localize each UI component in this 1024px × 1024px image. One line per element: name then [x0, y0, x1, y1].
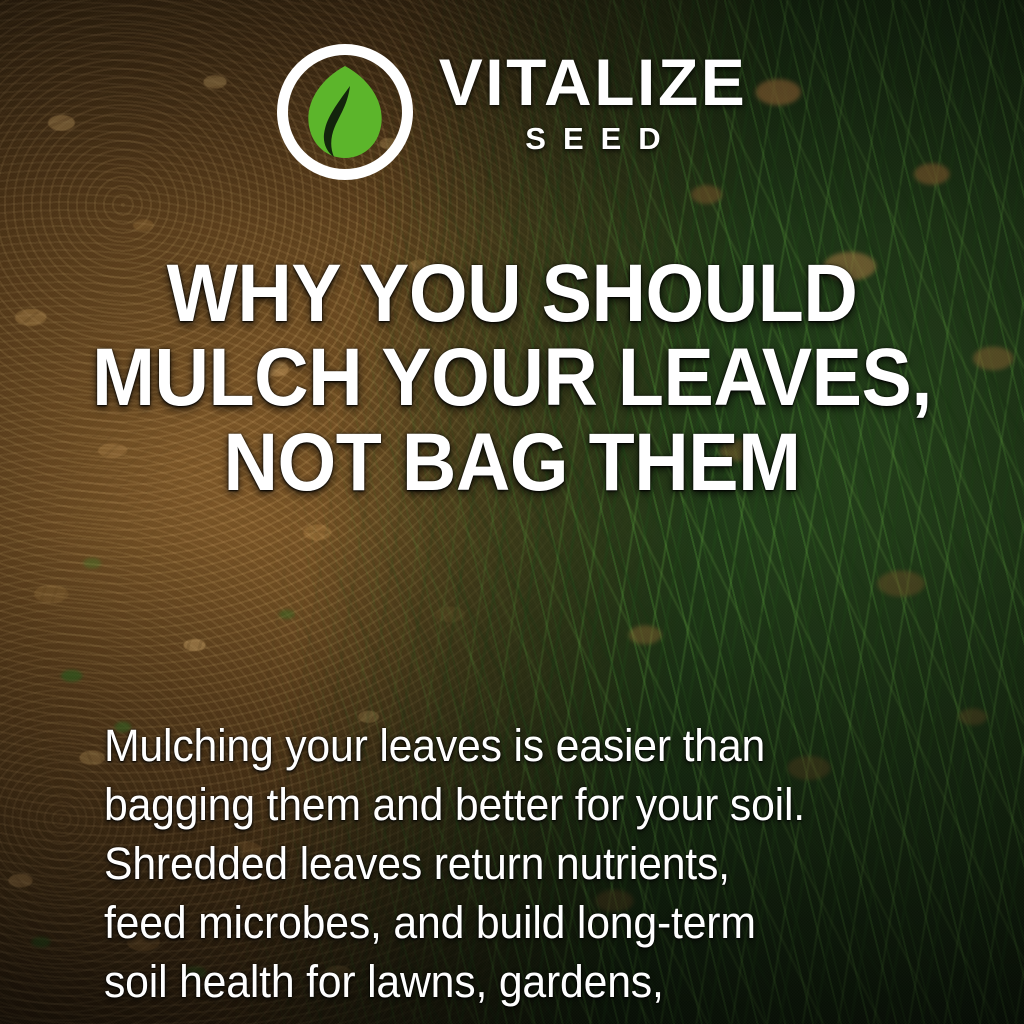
- page-title: WHY YOU SHOULD MULCH YOUR LEAVES, NOT BA…: [50, 252, 974, 505]
- poster-content: VITALIZE SEED WHY YOU SHOULD MULCH YOUR …: [0, 0, 1024, 1024]
- body-line-2: bagging them and better for your soil.: [104, 775, 864, 834]
- brand-name: VITALIZE: [439, 50, 747, 115]
- headline-line-3: NOT BAG THEM: [87, 421, 937, 505]
- brand-subname: SEED: [508, 121, 677, 157]
- headline-line-1: WHY YOU SHOULD: [87, 252, 937, 336]
- body-line-4: feed microbes, and build long-term: [104, 893, 864, 952]
- brand-wordmark: VITALIZE SEED: [439, 44, 747, 157]
- leaf-icon: [293, 60, 397, 164]
- brand-logo-lockup[interactable]: VITALIZE SEED: [0, 44, 1024, 180]
- body-line-5: soil health for lawns, gardens,: [104, 952, 864, 1011]
- body-paragraph: Mulching your leaves is easier than bagg…: [104, 716, 904, 1011]
- body-line-3: Shredded leaves return nutrients,: [104, 834, 864, 893]
- leaf-in-circle-icon: [277, 44, 413, 180]
- body-line-1: Mulching your leaves is easier than: [104, 716, 864, 775]
- social-graphic-poster: VITALIZE SEED WHY YOU SHOULD MULCH YOUR …: [0, 0, 1024, 1024]
- headline-line-2: MULCH YOUR LEAVES,: [87, 336, 937, 420]
